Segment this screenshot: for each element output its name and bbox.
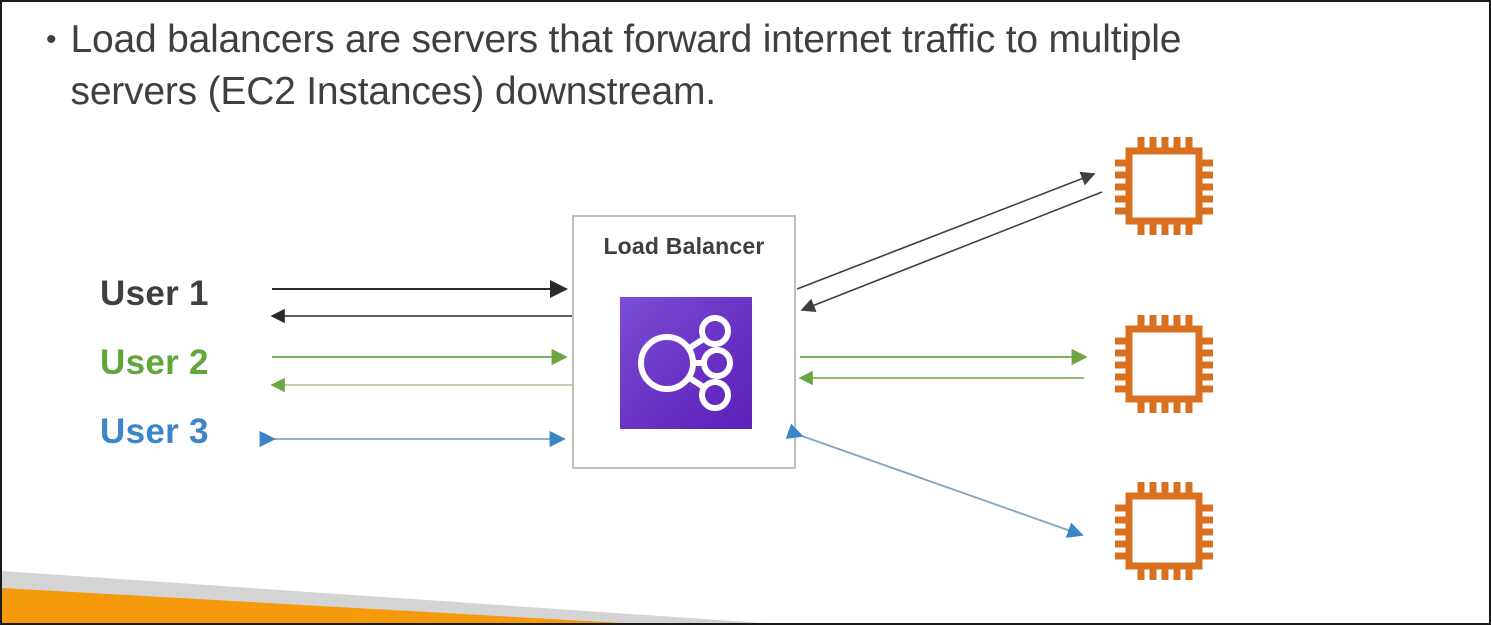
- load-balancer-icon: [620, 297, 752, 429]
- arrow-lb-instance3-bidirectional: [802, 436, 1082, 535]
- load-balancer-title: Load Balancer: [574, 233, 794, 260]
- ec2-instance-3-icon: [1108, 475, 1220, 587]
- bullet-marker-icon: •: [46, 14, 57, 66]
- load-balancer-node: Load Balancer: [572, 215, 796, 469]
- arrow-instance1-to-lb: [802, 192, 1102, 310]
- ec2-instance-2-icon: [1108, 308, 1220, 420]
- user-2-label: User 2: [100, 343, 209, 383]
- bullet-paragraph: • Load balancers are servers that forwar…: [46, 14, 1346, 118]
- user-1-label: User 1: [100, 274, 209, 314]
- slide-canvas: • Load balancers are servers that forwar…: [0, 0, 1491, 625]
- slide-body-text: Load balancers are servers that forward …: [71, 14, 1301, 118]
- user-3-label: User 3: [100, 412, 209, 452]
- ec2-instance-1-icon: [1108, 130, 1220, 242]
- arrow-lb-to-instance1: [797, 174, 1094, 289]
